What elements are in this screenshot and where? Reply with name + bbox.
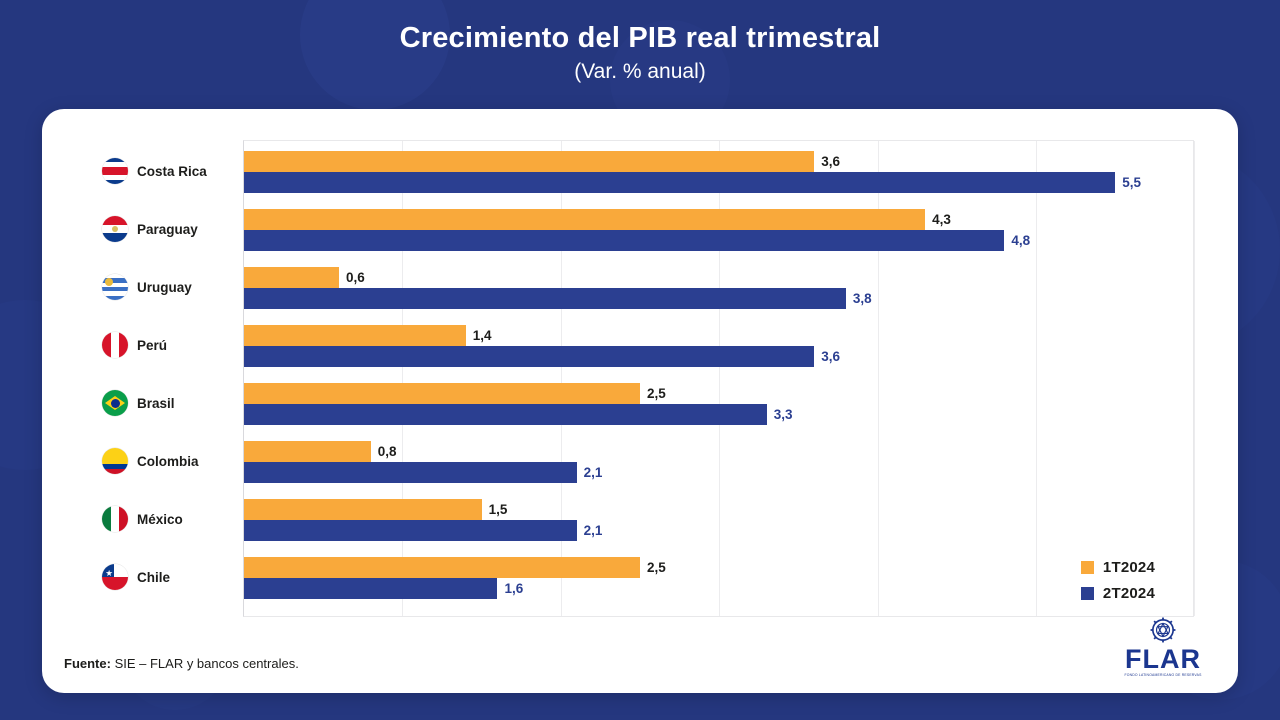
bar[interactable] (244, 172, 1115, 193)
bar[interactable] (244, 462, 577, 483)
bar[interactable] (244, 288, 846, 309)
category-label: Uruguay (137, 280, 192, 295)
category-label-row: México (102, 490, 242, 548)
bar-group: 0,82,1 (244, 433, 1193, 491)
bar[interactable] (244, 499, 482, 520)
bar[interactable] (244, 325, 466, 346)
category-label-row: Paraguay (102, 200, 242, 258)
category-label: México (137, 512, 183, 527)
bar-value-label: 1,5 (489, 499, 508, 520)
bar-value-label: 0,8 (378, 441, 397, 462)
bar-value-label: 4,3 (932, 209, 951, 230)
flar-tagline: FONDO LATINOAMERICANO DE RESERVAS (1108, 674, 1218, 677)
flar-logo: FLAR FONDO LATINOAMERICANO DE RESERVAS (1108, 615, 1218, 677)
chart-title: Crecimiento del PIB real trimestral (0, 20, 1280, 56)
bar[interactable] (244, 520, 577, 541)
source-label: Fuente: (64, 656, 111, 671)
plot-area: 3,65,54,34,80,63,81,43,62,53,30,82,11,52… (243, 140, 1194, 617)
bar-value-label: 1,4 (473, 325, 492, 346)
bar[interactable] (244, 441, 371, 462)
category-label-row: Colombia (102, 432, 242, 490)
flag-icon (102, 448, 128, 474)
bar-group: 3,65,5 (244, 143, 1193, 201)
bar-value-label: 3,3 (774, 404, 793, 425)
category-label: Perú (137, 338, 167, 353)
bar[interactable] (244, 267, 339, 288)
flag-icon (102, 390, 128, 416)
bar-value-label: 3,6 (821, 151, 840, 172)
category-label: Chile (137, 570, 170, 585)
category-label-row: Brasil (102, 374, 242, 432)
chart-card: Costa RicaParaguayUruguayPerúBrasilColom… (42, 109, 1238, 693)
legend-swatch-icon (1081, 587, 1094, 600)
bar-value-label: 3,6 (821, 346, 840, 367)
bar-series-container: 3,65,54,34,80,63,81,43,62,53,30,82,11,52… (244, 141, 1193, 616)
bar-group: 0,63,8 (244, 259, 1193, 317)
flag-icon (102, 274, 128, 300)
bar-value-label: 2,5 (647, 383, 666, 404)
chart-area: Costa RicaParaguayUruguayPerúBrasilColom… (42, 109, 1238, 629)
flag-icon (102, 216, 128, 242)
chart-header: Crecimiento del PIB real trimestral (Var… (0, 20, 1280, 87)
bar[interactable] (244, 209, 925, 230)
bar[interactable] (244, 383, 640, 404)
legend-swatch-icon (1081, 561, 1094, 574)
bar[interactable] (244, 557, 640, 578)
gridline (1194, 141, 1195, 616)
bar-value-label: 0,6 (346, 267, 365, 288)
legend-label: 1T2024 (1103, 559, 1155, 576)
bar-group: 2,53,3 (244, 375, 1193, 433)
legend-item-1t2024[interactable]: 1T2024 (1081, 559, 1155, 576)
category-label-column: Costa RicaParaguayUruguayPerúBrasilColom… (102, 140, 242, 617)
bar-value-label: 2,1 (584, 462, 603, 483)
bar-group: 4,34,8 (244, 201, 1193, 259)
bar[interactable] (244, 404, 767, 425)
bar[interactable] (244, 230, 1004, 251)
flag-icon (102, 506, 128, 532)
flar-emblem-icon (1148, 615, 1178, 645)
flag-icon (102, 158, 128, 184)
bar-value-label: 1,6 (504, 578, 523, 599)
category-label: Costa Rica (137, 164, 207, 179)
chart-subtitle: (Var. % anual) (0, 57, 1280, 87)
bar[interactable] (244, 151, 814, 172)
category-label-row: Costa Rica (102, 142, 242, 200)
bar-value-label: 2,5 (647, 557, 666, 578)
source-text: SIE – FLAR y bancos centrales. (111, 656, 299, 671)
category-label: Paraguay (137, 222, 198, 237)
bar-group: 2,51,6 (244, 549, 1193, 607)
chart-legend: 1T2024 2T2024 (1081, 559, 1155, 602)
category-label-row: Uruguay (102, 258, 242, 316)
bar[interactable] (244, 346, 814, 367)
bar-value-label: 4,8 (1011, 230, 1030, 251)
legend-label: 2T2024 (1103, 585, 1155, 602)
category-label-row: Perú (102, 316, 242, 374)
bar-value-label: 3,8 (853, 288, 872, 309)
flag-icon (102, 332, 128, 358)
bar[interactable] (244, 578, 497, 599)
category-label: Brasil (137, 396, 175, 411)
flag-icon (102, 564, 128, 590)
flar-wordmark: FLAR (1108, 646, 1218, 673)
legend-item-2t2024[interactable]: 2T2024 (1081, 585, 1155, 602)
category-label: Colombia (137, 454, 199, 469)
source-note: Fuente: SIE – FLAR y bancos centrales. (64, 656, 299, 671)
bar-value-label: 5,5 (1122, 172, 1141, 193)
bar-value-label: 2,1 (584, 520, 603, 541)
bar-group: 1,43,6 (244, 317, 1193, 375)
category-label-row: Chile (102, 548, 242, 606)
bar-group: 1,52,1 (244, 491, 1193, 549)
